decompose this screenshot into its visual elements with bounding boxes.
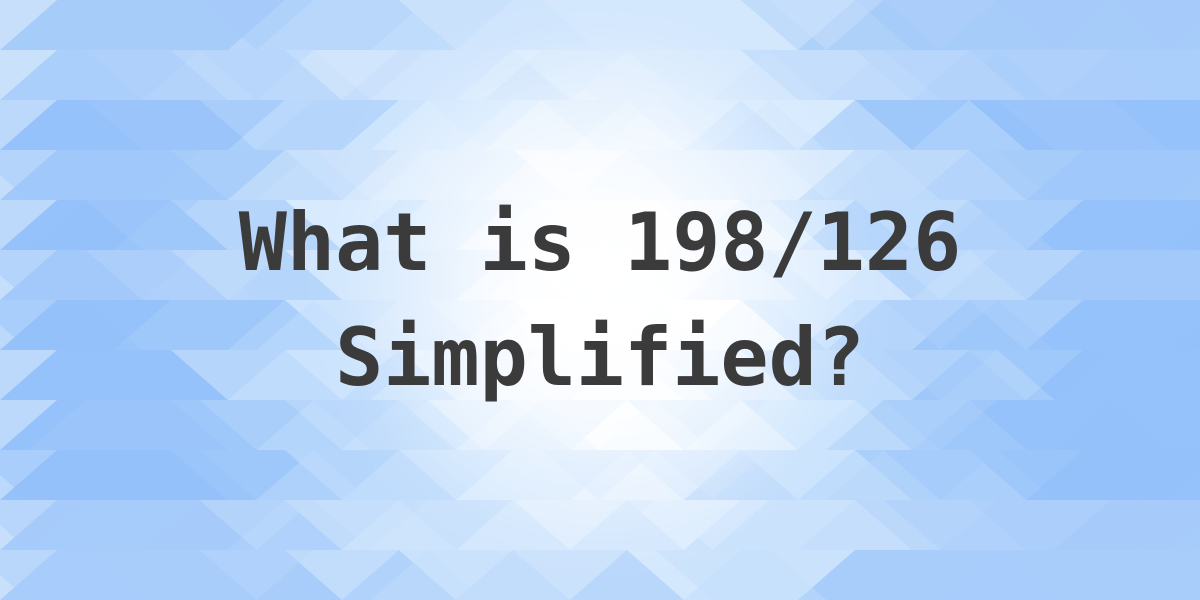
- low-poly-background: [0, 0, 1200, 600]
- question-card: What is 198/126 Simplified?: [0, 0, 1200, 600]
